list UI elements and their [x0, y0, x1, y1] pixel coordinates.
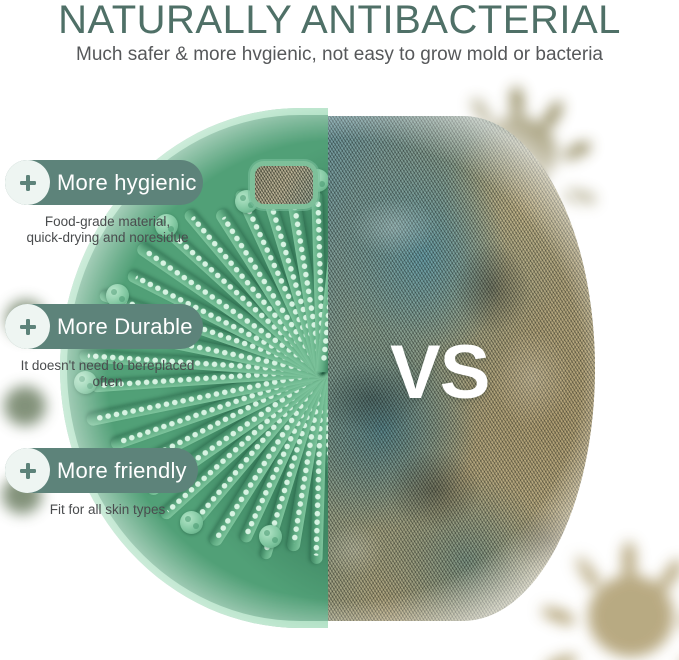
feature-item-more-friendly[interactable]: More friendly Fit for all skin types [0, 448, 215, 518]
feature-pill[interactable]: More Durable [5, 304, 203, 349]
feature-item-more-hygienic[interactable]: More hygienic Food-grade material, quick… [0, 160, 215, 246]
feature-caption-line: Fit for all skin types [0, 502, 215, 518]
page-title: NATURALLY ANTIBACTERIAL [0, 0, 679, 43]
feature-caption-line: Food-grade material, [0, 214, 215, 230]
feature-item-more-durable[interactable]: More Durable It doesn't need to bereplac… [0, 304, 215, 390]
virus-spike [655, 557, 679, 594]
feature-label: More friendly [57, 458, 187, 484]
feature-caption-line: quick-drying and noresidue [0, 230, 215, 246]
feature-pill[interactable]: More friendly [5, 448, 198, 493]
hole-mesh-texture [255, 166, 313, 204]
feature-caption: It doesn't need to bereplaced often [0, 358, 215, 390]
virus-body [4, 386, 46, 426]
vs-label: VS [390, 335, 489, 411]
virus-spike [542, 652, 578, 660]
scrubber-nub [259, 525, 282, 548]
feature-label: More hygienic [57, 170, 197, 196]
feature-caption-line: often [0, 374, 215, 390]
feature-caption: Fit for all skin types [0, 502, 215, 518]
feature-caption: Food-grade material, quick-drying and no… [0, 214, 215, 246]
scrubber-hang-hole [255, 166, 313, 204]
page-subtitle: Much safer & more hvgienic, not easy to … [0, 44, 679, 66]
virus-spike [622, 542, 636, 580]
feature-pill[interactable]: More hygienic [5, 160, 203, 205]
plus-icon [5, 448, 50, 493]
feature-label: More Durable [57, 314, 193, 340]
plus-icon [5, 160, 50, 205]
plus-icon [5, 304, 50, 349]
header: NATURALLY ANTIBACTERIAL Much safer & mor… [0, 0, 679, 76]
feature-caption-line: It doesn't need to bereplaced [0, 358, 215, 374]
infographic-canvas: NATURALLY ANTIBACTERIAL Much safer & mor… [0, 0, 679, 660]
